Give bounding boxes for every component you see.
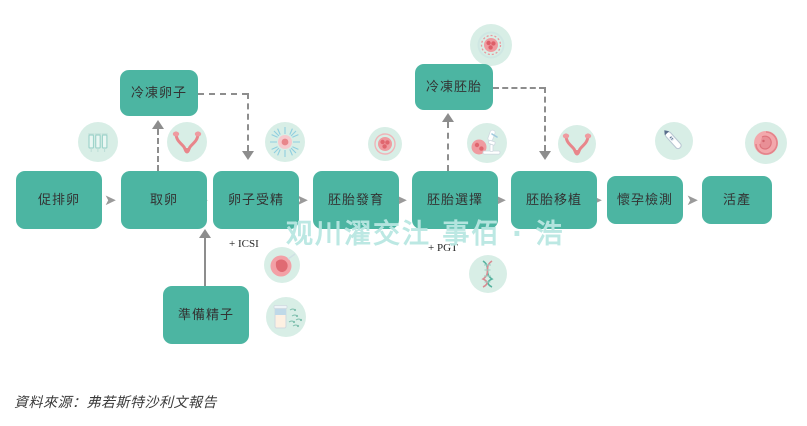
branch-box-冷凍胚胎[interactable]: 冷凍胚胎 xyxy=(415,64,493,110)
dashed-line-embryo-down xyxy=(544,87,546,151)
branch-label: 冷凍卵子 xyxy=(131,85,187,101)
step-label: 促排卵 xyxy=(38,192,80,208)
embryo-cell-icon xyxy=(368,127,402,161)
arrow-step7-step8: ➤ xyxy=(686,193,699,208)
step-box-懷孕檢測[interactable]: 懷孕檢測 xyxy=(607,176,683,224)
arrowhead-up-fertilization xyxy=(199,229,211,238)
dashed-line-embryo-right xyxy=(493,87,545,89)
sperm-sample-icon xyxy=(266,297,306,337)
branch-box-準備精子[interactable]: 準備精子 xyxy=(163,286,249,344)
dashed-line-eggs-down xyxy=(247,93,249,151)
step-box-促排卵[interactable]: 促排卵 xyxy=(16,171,102,229)
branch-label: 冷凍胚胎 xyxy=(426,79,482,95)
step-label: 活產 xyxy=(723,192,751,208)
fetus-baby-icon xyxy=(745,122,787,164)
icsi-egg-icon xyxy=(264,247,300,283)
uterus-icon xyxy=(167,122,207,162)
embryo-dividing-icon xyxy=(470,24,512,66)
pregnancy-test-icon xyxy=(655,122,693,160)
watermark-text: 观川濯交汢 事佰 · 浩 xyxy=(286,212,564,251)
dna-helix-icon xyxy=(469,255,507,293)
diagram-canvas: ➤ ➤ ➤ ➤ ➤ ➤ ➤ 促排卵 取卵 卵子受精 胚胎發育 胚胎選擇 胚胎移植… xyxy=(0,0,807,426)
step-label: 胚胎移植 xyxy=(526,192,582,208)
step-box-活產[interactable]: 活產 xyxy=(702,176,772,224)
microscope-icon xyxy=(467,123,507,163)
arrowhead-down-fertilization xyxy=(242,151,254,160)
step-label: 胚胎發育 xyxy=(328,192,384,208)
branch-label: 準備精子 xyxy=(178,307,234,323)
uterus-icon xyxy=(558,125,596,163)
source-note: 資料來源：弗若斯特沙利文報告 xyxy=(14,392,217,412)
arrowhead-up-freeze-embryo xyxy=(442,113,454,122)
solid-line-sperm-up xyxy=(204,238,206,288)
syringes-icon xyxy=(78,122,118,162)
dashed-line-eggs-up xyxy=(157,129,159,171)
step-label: 胚胎選擇 xyxy=(427,192,483,208)
dashed-line-eggs-right xyxy=(198,93,248,95)
step-label: 取卵 xyxy=(150,192,178,208)
step-label: 卵子受精 xyxy=(228,192,284,208)
annotation-icsi: + ICSI xyxy=(229,238,259,250)
arrowhead-down-transfer xyxy=(539,151,551,160)
arrowhead-up-freeze-eggs xyxy=(152,120,164,129)
step-label: 懷孕檢測 xyxy=(617,192,673,208)
step-box-取卵[interactable]: 取卵 xyxy=(121,171,207,229)
arrow-step1-step2: ➤ xyxy=(104,193,117,208)
dashed-line-embryo-up xyxy=(447,122,449,171)
egg-fertilization-icon xyxy=(265,122,305,162)
branch-box-冷凍卵子[interactable]: 冷凍卵子 xyxy=(120,70,198,116)
